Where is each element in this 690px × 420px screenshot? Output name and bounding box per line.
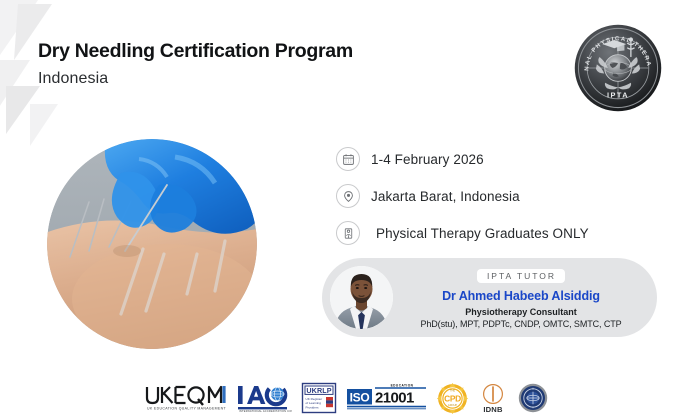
page-subtitle: Indonesia [38,70,498,88]
poster-root: Dry Needling Certification Program Indon… [0,0,690,420]
calendar-icon [336,147,360,171]
info-text-date: 1-4 February 2026 [371,152,484,167]
dry-needling-photo [47,139,257,349]
tutor-name: Dr Ahmed Habeeb Alsiddig [395,289,647,303]
iac-logo: INTERNATIONAL ACCREDITATION COUNCIL [236,383,292,413]
seal-acronym: IPTA [607,90,629,99]
info-row-location: Jakarta Barat, Indonesia [336,184,666,208]
ukeqm-logo: UK EDUCATION QUALITY MANAGEMENT [143,383,227,413]
iso-21001-logo: ISO 21001 EDUCATION [346,383,428,413]
tutor-avatar [330,266,393,329]
graduate-icon [336,221,360,245]
svg-text:EDUCATION: EDUCATION [390,384,413,388]
cpd-logo: THE CPD GROUP [437,383,468,414]
ukrlp-logo: UKRLP UK Register of Learning Providers [301,382,337,414]
info-text-location: Jakarta Barat, Indonesia [371,189,520,204]
svg-text:IDNB: IDNB [483,405,503,414]
svg-text:GROUP: GROUP [447,404,457,407]
svg-text:INTERNATIONAL ACCREDITATION CO: INTERNATIONAL ACCREDITATION COUNCIL [239,409,292,413]
seal-logo [518,383,548,413]
tutor-role: Physiotherapy Consultant [395,307,647,317]
page-title: Dry Needling Certification Program [38,40,498,63]
accreditation-logo-bar: UK EDUCATION QUALITY MANAGEMENT INTERNAT… [0,382,690,414]
tutor-badge: IPTA TUTOR [477,269,565,283]
svg-text:CPD: CPD [444,393,461,403]
info-text-audience: Physical Therapy Graduates ONLY [376,226,589,241]
event-info-list: 1-4 February 2026 Jakarta Barat, Indones… [336,147,666,258]
svg-text:Providers: Providers [305,405,319,409]
idnb-logo: IDNB [477,383,509,414]
info-row-date: 1-4 February 2026 [336,147,666,171]
tutor-credentials: PhD(stu), MPT, PDPTc, CNDP, OMTC, SMTC, … [395,319,647,329]
location-pin-icon [336,184,360,208]
svg-text:UK EDUCATION QUALITY MANAGEMEN: UK EDUCATION QUALITY MANAGEMENT [147,407,226,411]
ipta-academy-seal-icon: INTERNATIONAL PHYSICAL THERAPY ACADEMY [572,22,664,114]
tutor-details: IPTA TUTOR Dr Ahmed Habeeb Alsiddig Phys… [393,266,657,329]
header: Dry Needling Certification Program Indon… [38,40,498,88]
info-row-audience: Physical Therapy Graduates ONLY [336,221,666,245]
tutor-card: IPTA TUTOR Dr Ahmed Habeeb Alsiddig Phys… [322,258,657,337]
svg-text:ISO: ISO [349,391,369,405]
svg-text:21001: 21001 [375,390,414,407]
svg-text:THE: THE [449,388,454,392]
svg-text:UKRLP: UKRLP [306,386,331,395]
